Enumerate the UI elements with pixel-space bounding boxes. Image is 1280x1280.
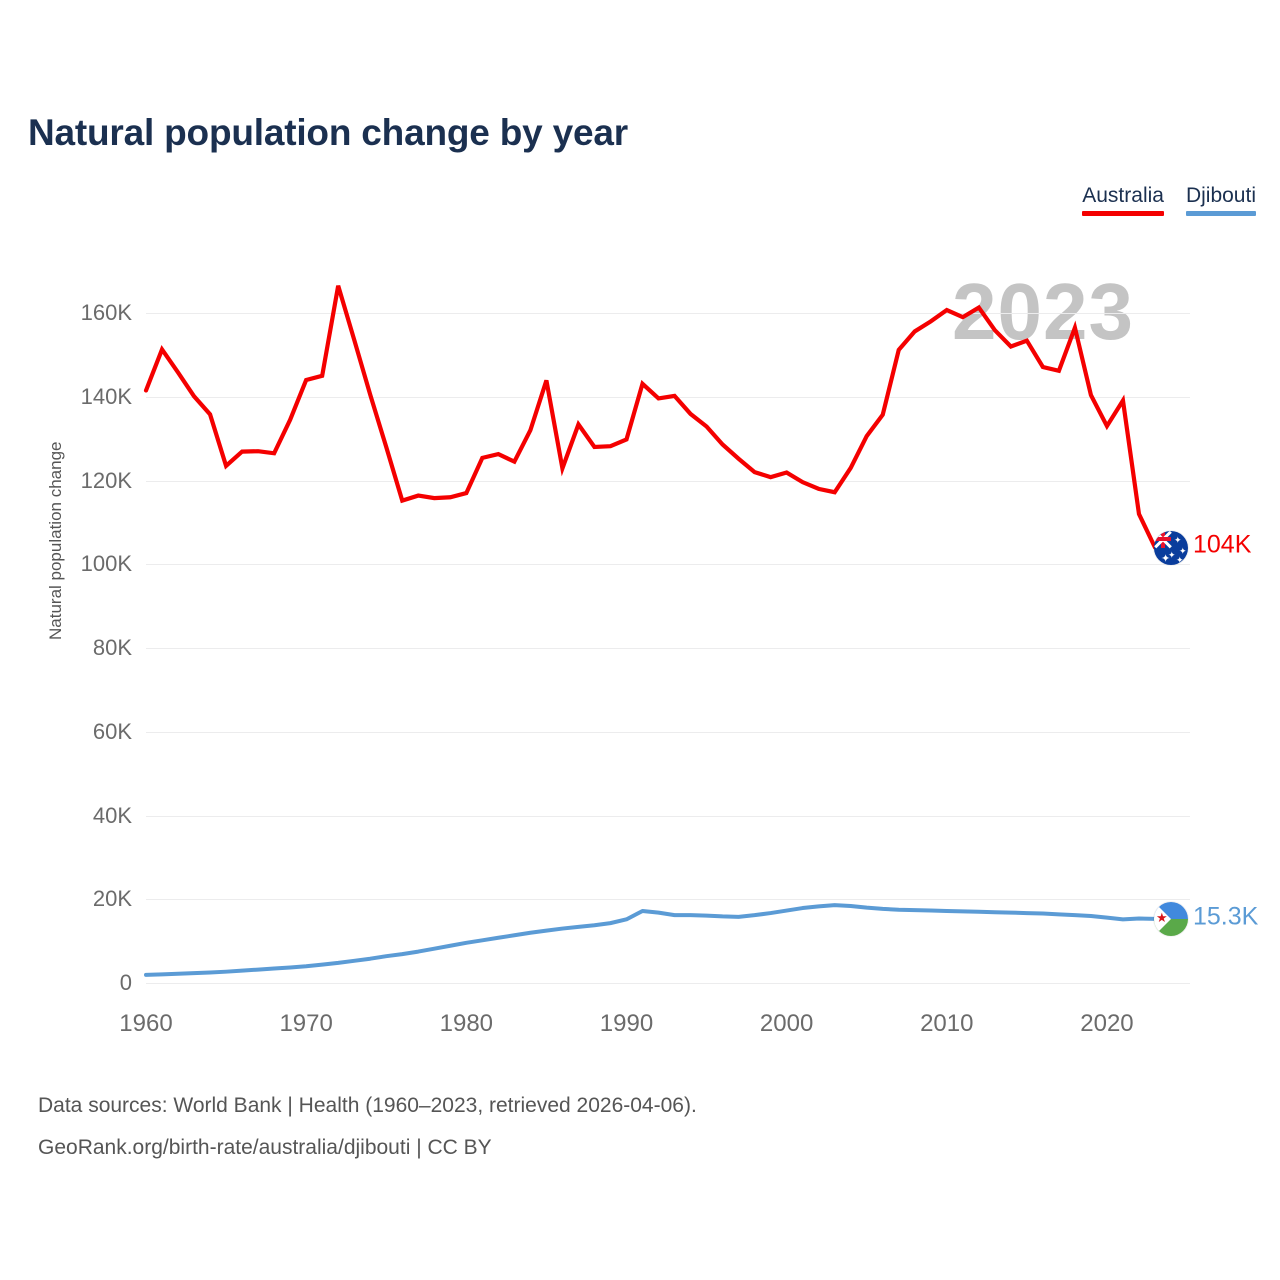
- union-jack: [1154, 531, 1171, 548]
- flag-star: ✦: [1161, 555, 1170, 564]
- djibouti-flag-icon: ★: [1154, 902, 1188, 936]
- flag-star: ✦: [1176, 556, 1184, 565]
- footer-source-url[interactable]: GeoRank.org/birth-rate/australia/djibout…: [38, 1127, 697, 1169]
- australia-flag-icon: ✦ ✦ ✦ ✦ ✦: [1154, 531, 1188, 565]
- series-line-australia: [146, 286, 1155, 548]
- footer-data-sources: Data sources: World Bank | Health (1960–…: [38, 1085, 697, 1127]
- flag-star: ✦: [1174, 536, 1182, 545]
- chart-page: Natural population change by year Austra…: [0, 0, 1280, 1280]
- flag-star: ★: [1156, 911, 1168, 924]
- australia-end-value: 104K: [1193, 530, 1251, 559]
- series-line-djibouti: [146, 905, 1155, 975]
- djibouti-end-value: 15.3K: [1193, 902, 1258, 931]
- footer-attribution: Data sources: World Bank | Health (1960–…: [38, 1085, 697, 1169]
